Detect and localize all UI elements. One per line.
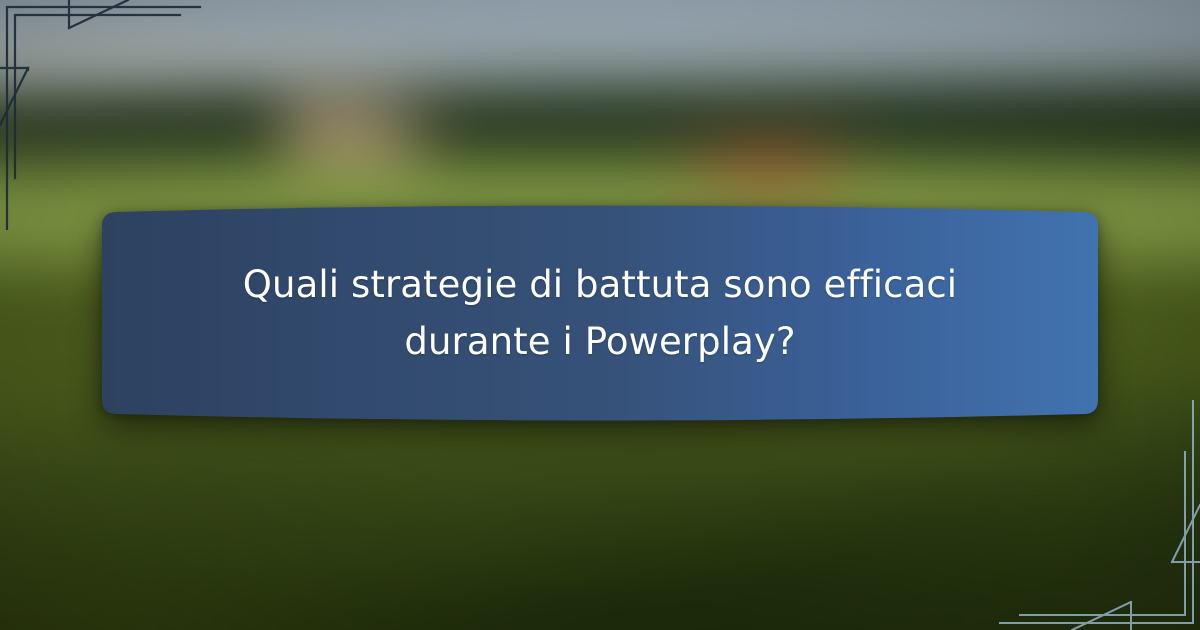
social-card-canvas: Quali strategie di battuta sono efficaci… — [0, 0, 1200, 630]
quote-card-text-block: Quali strategie di battuta sono efficaci… — [102, 204, 1098, 422]
quote-card: Quali strategie di battuta sono efficaci… — [102, 204, 1098, 422]
quote-line-2: durante i Powerplay? — [404, 313, 795, 370]
quote-line-1: Quali strategie di battuta sono efficaci — [243, 256, 957, 313]
